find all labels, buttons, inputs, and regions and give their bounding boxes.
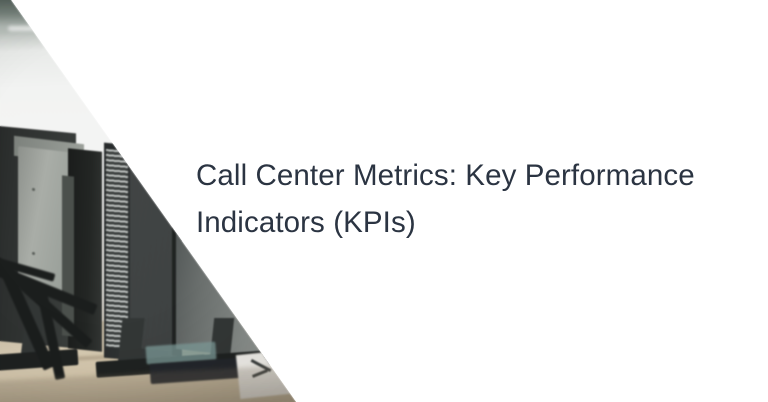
monitor-2-bezel bbox=[62, 175, 74, 336]
vesa-screw bbox=[32, 188, 35, 191]
vesa-screw bbox=[32, 252, 35, 255]
page-title: Call Center Metrics: Key Performance Ind… bbox=[196, 152, 752, 246]
slide-canvas: Call Center Metrics: Key Performance Ind… bbox=[0, 0, 768, 402]
title-block: Call Center Metrics: Key Performance Ind… bbox=[196, 152, 752, 246]
ceiling-light bbox=[8, 26, 62, 31]
